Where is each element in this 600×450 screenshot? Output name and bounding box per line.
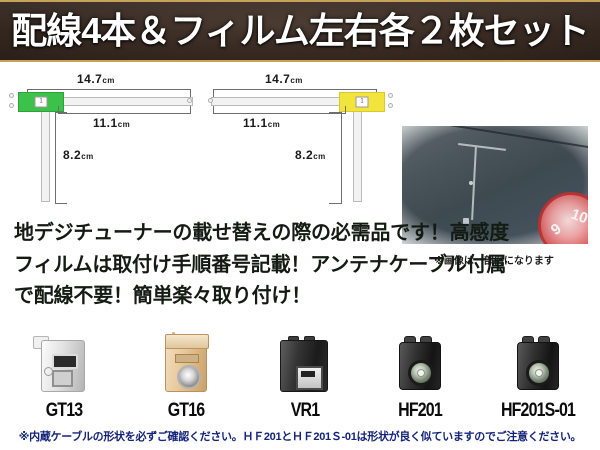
- description-line-3: で配線不要！簡単楽々取り付け！: [14, 281, 588, 313]
- connector-hf201: HF201: [360, 332, 480, 424]
- antenna-film-horizontal: [458, 143, 506, 151]
- footer-note: ※内蔵ケーブルの形状を必ずご確認ください。ＨＦ201とＨＦ201Ｓ-01は形状が…: [0, 428, 600, 444]
- right-strip-end-dot: [208, 98, 213, 103]
- connector-gallery: GT13 GT16 VR1: [0, 332, 600, 424]
- hf201s01-label: HF201S-01: [488, 400, 589, 422]
- gt13-connector-image: [33, 334, 95, 394]
- dim-vertical-left-label: 8.2cm: [63, 148, 94, 162]
- connector-hf201s01: HF201S-01: [478, 332, 598, 424]
- left-film-antenna: 14.7cm 1 11.1cm: [5, 62, 200, 214]
- gt16-slot: [175, 354, 199, 363]
- gt13-window-light: [52, 370, 73, 387]
- description-line-2: フィルムは取付け手順番号記載！アンテナケーブル付属: [14, 250, 588, 282]
- gt13-pin: [44, 367, 53, 376]
- right-pad-chip: 1: [356, 97, 369, 108]
- left-strip-end-dot: [187, 98, 192, 103]
- gt16-label: GT16: [136, 400, 237, 422]
- hf201-connector-image: [389, 334, 451, 394]
- dim-inner-right-label: 11.1cm: [243, 116, 280, 130]
- dim-vertical-right-label: 8.2cm: [295, 148, 326, 162]
- product-banner: 配線4本＆フィルム左右各２枚セット 14.7cm 1: [0, 0, 600, 450]
- connector-gt13: GT13: [4, 332, 124, 424]
- header-band: 配線4本＆フィルム左右各２枚セット: [0, 0, 600, 62]
- gt16-center-pin: [177, 365, 201, 389]
- gt13-label: GT13: [14, 400, 115, 422]
- dim-top-right-label: 14.7cm: [265, 72, 303, 86]
- vr1-label: VR1: [255, 400, 356, 422]
- vr1-connector-image: [274, 334, 336, 394]
- left-pad-dot-top: [9, 93, 14, 98]
- connector-gt16: GT16: [126, 332, 246, 424]
- diagram-area: 14.7cm 1 11.1cm: [0, 62, 600, 214]
- gt16-lid: [165, 334, 209, 349]
- right-pad-dot-top: [388, 93, 393, 98]
- dim-top-left-label: 14.7cm: [77, 72, 115, 86]
- header-title: 配線4本＆フィルム左右各２枚セット: [0, 13, 600, 49]
- description-block: 地デジチューナーの載せ替えの際の必需品です！高感度 フィルムは取付け手順番号記載…: [14, 218, 588, 313]
- gt13-window-dark: [52, 354, 78, 369]
- right-pad-dot-bottom: [388, 103, 393, 108]
- gt16-connector-image: [155, 334, 217, 394]
- right-strip-vertical: [353, 106, 362, 202]
- left-pad-dot-bottom: [9, 103, 14, 108]
- left-strip-vertical: [41, 106, 50, 202]
- left-pad-chip: 1: [35, 97, 48, 108]
- hf201s01-coax-port: [526, 360, 552, 386]
- right-film-antenna: 14.7cm 1 11.1cm 8.2cm: [203, 62, 398, 214]
- connector-vr1: VR1: [245, 332, 365, 424]
- hf201s01-connector-image: [507, 334, 569, 394]
- vr1-port: [296, 366, 323, 390]
- glass-edge-line: [436, 126, 588, 151]
- hf201-coax-port: [408, 360, 434, 386]
- dim-inner-left-label: 11.1cm: [93, 116, 130, 130]
- hf201-label: HF201: [370, 400, 471, 422]
- description-line-1: 地デジチューナーの載せ替えの際の必需品です！高感度: [14, 218, 588, 250]
